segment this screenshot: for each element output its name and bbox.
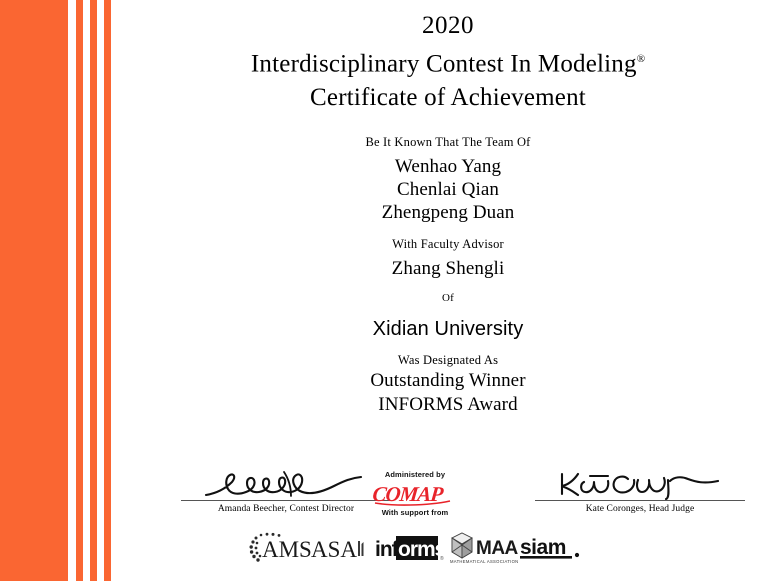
handwritten-signature-icon [196, 468, 376, 500]
team-member-2: Chenlai Qian [125, 178, 771, 201]
svg-text:orms: orms [398, 538, 444, 561]
svg-text:inf: inf [375, 538, 400, 561]
accent-bar-stripe-2 [90, 0, 97, 581]
sponsor-logo-row: AMS ASA inf orms ® [240, 531, 600, 571]
signature-label: Amanda Beecher, Contest Director [181, 503, 391, 515]
signature-label: Kate Coronges, Head Judge [535, 503, 745, 515]
certificate-document: 2020 Interdisciplinary Contest In Modeli… [0, 0, 771, 581]
support-from-label: With support from [365, 508, 465, 518]
svg-text:siam: siam [520, 536, 566, 559]
award-1: Outstanding Winner [125, 369, 771, 393]
institution-name: Xidian University [125, 316, 771, 342]
contest-title: Interdisciplinary Contest In Modeling® [125, 42, 771, 81]
advisor-caption: With Faculty Advisor [125, 235, 771, 253]
team-member-3: Zhengpeng Duan [125, 201, 771, 224]
award-2: INFORMS Award [125, 393, 771, 417]
svg-text:®: ® [440, 555, 444, 562]
svg-text:MATHEMATICAL ASSOCIATION OF AM: MATHEMATICAL ASSOCIATION OF AMERICA [450, 559, 520, 564]
siam-logo: siam [518, 531, 584, 570]
siam-logo-icon: siam [518, 531, 584, 565]
svg-text:AMS: AMS [262, 537, 312, 562]
ams-asa-logo: AMS ASA [248, 531, 370, 570]
team-member-1: Wenhao Yang [125, 155, 771, 178]
designation-caption: Was Designated As [125, 351, 771, 369]
accent-bar-stripe-1 [76, 0, 83, 581]
signature-head-judge: Kate Coronges, Head Judge [535, 468, 745, 515]
informs-logo-icon: inf orms ® [374, 531, 444, 565]
signature-contest-director: Amanda Beecher, Contest Director [181, 468, 391, 515]
handwritten-signature-icon [550, 468, 730, 500]
certificate-subtitle: Certificate of Achievement [125, 81, 771, 115]
contest-title-text: Interdisciplinary Contest In Modeling [251, 50, 637, 77]
comap-logo-icon: COMAP [372, 481, 458, 507]
of-caption: Of [125, 290, 771, 307]
advisor-name: Zhang Shengli [125, 257, 771, 280]
accent-bar-stripe-3 [104, 0, 111, 581]
signature-rule [535, 500, 745, 501]
registered-trademark-icon: ® [637, 53, 645, 65]
informs-logo: inf orms ® [374, 531, 444, 570]
svg-text:COMAP: COMAP [372, 482, 445, 506]
team-caption: Be It Known That The Team Of [125, 133, 771, 151]
comap-block: Administered by COMAP With support from [365, 470, 465, 518]
certificate-year: 2020 [125, 10, 771, 42]
ams-asa-logo-icon: AMS ASA [248, 531, 370, 565]
svg-text:ASA: ASA [311, 537, 357, 562]
accent-bar-solid [0, 0, 68, 581]
maa-logo: MAA MATHEMATICAL ASSOCIATION OF AMERICA [448, 531, 520, 570]
svg-text:MAA: MAA [476, 538, 519, 559]
administered-by-label: Administered by [365, 470, 465, 480]
maa-logo-icon: MAA MATHEMATICAL ASSOCIATION OF AMERICA [448, 531, 520, 565]
signature-rule [181, 500, 391, 501]
